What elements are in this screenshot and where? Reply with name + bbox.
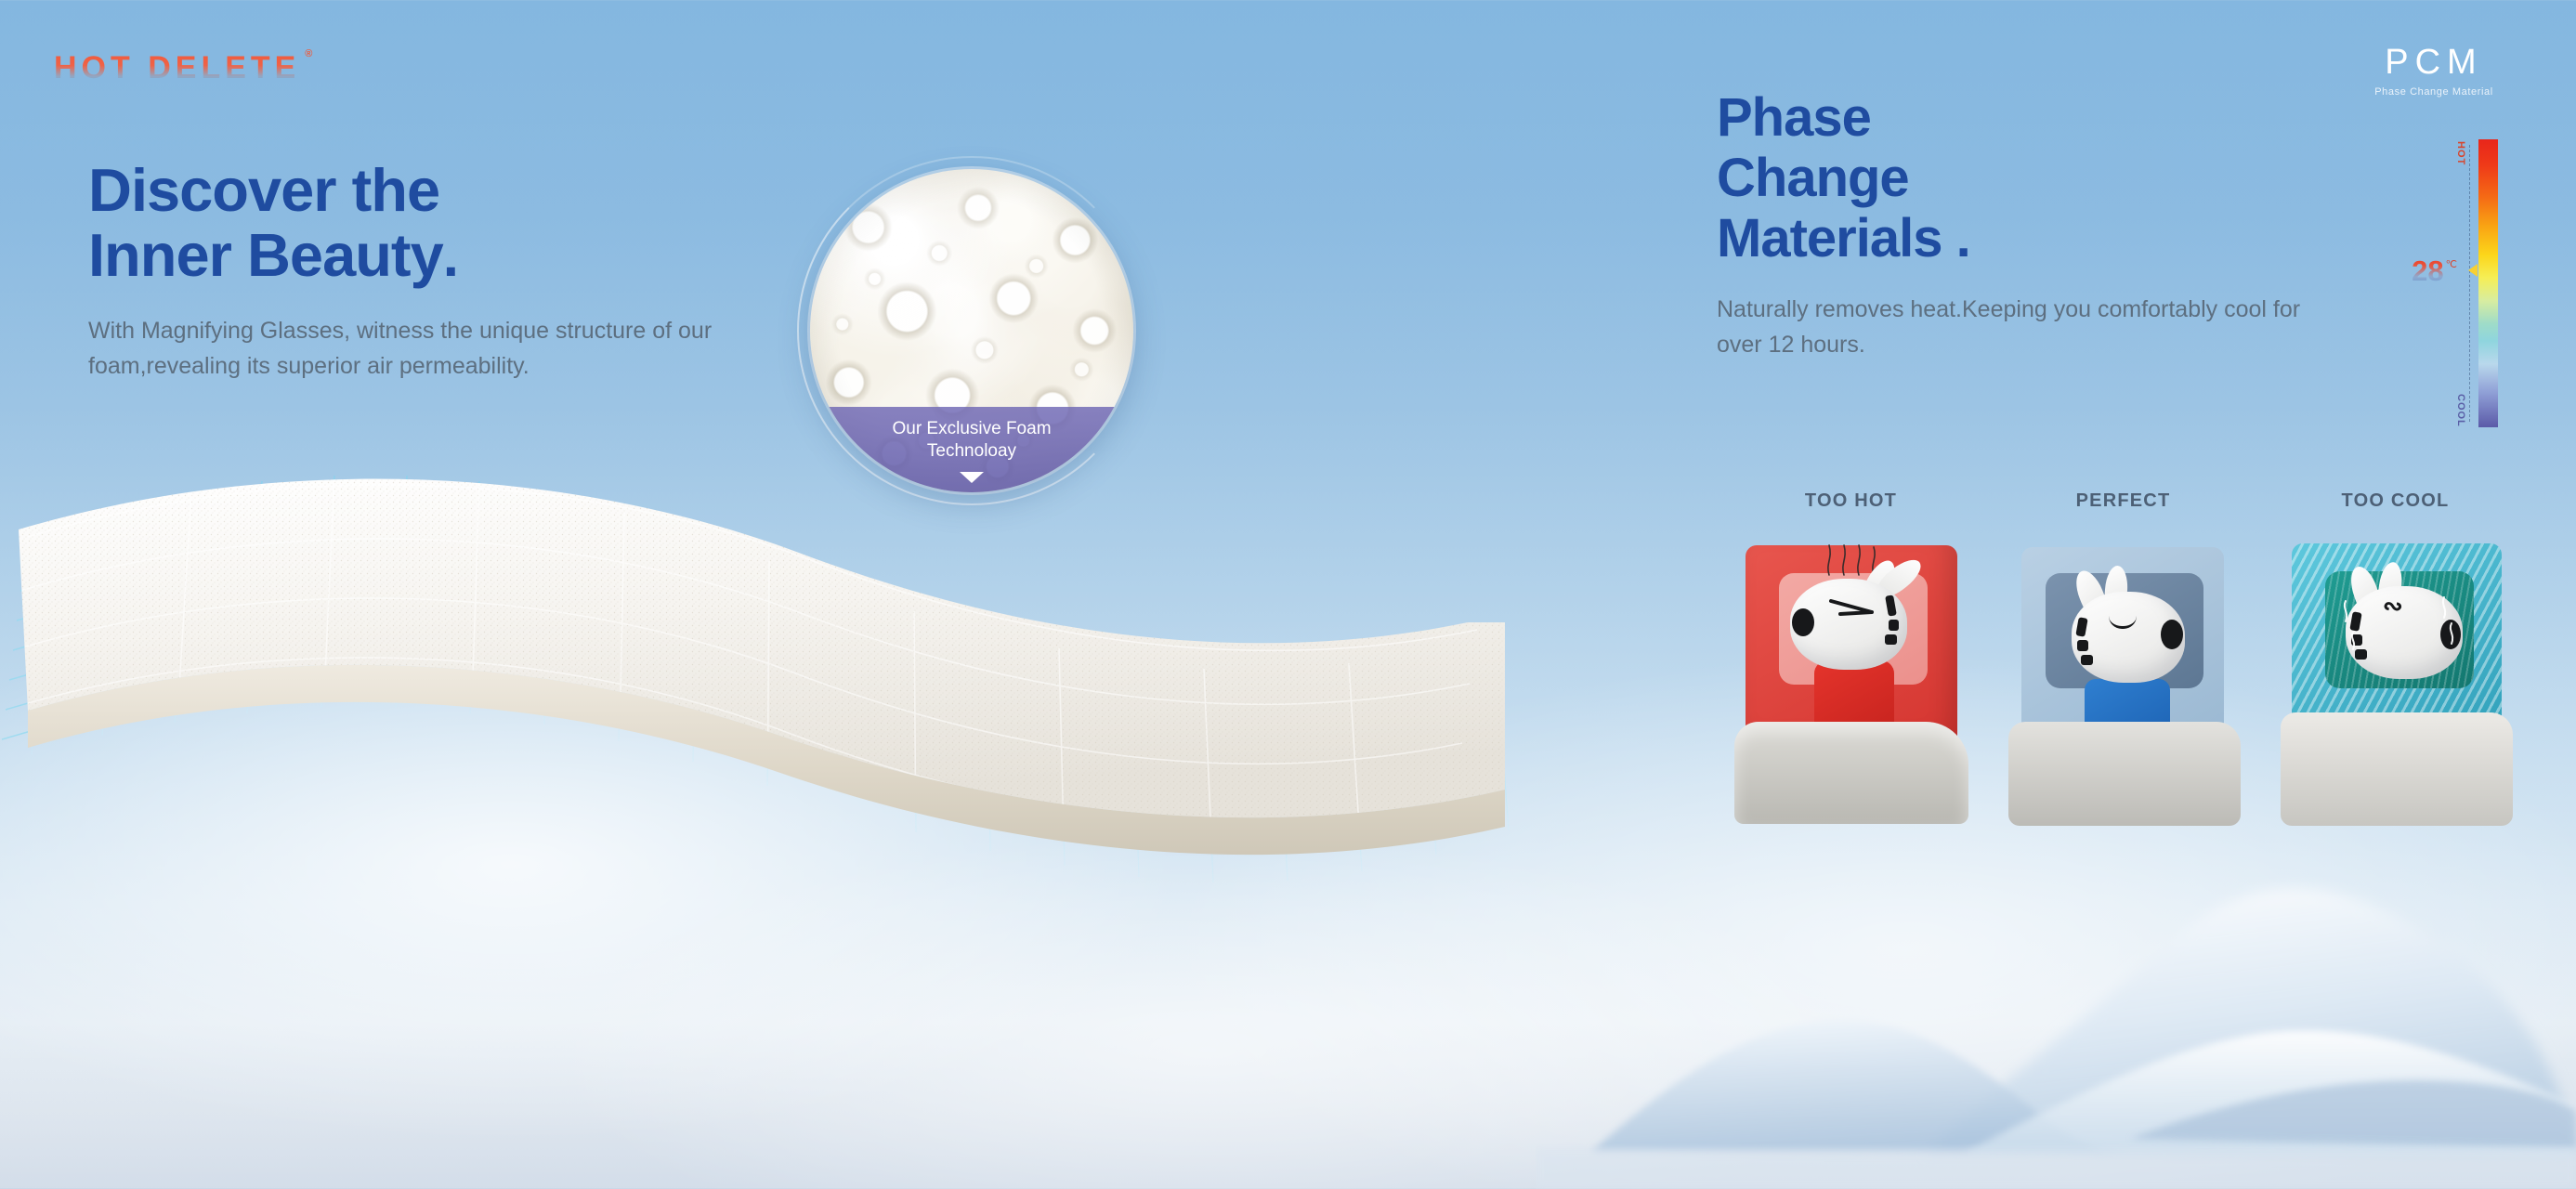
pcm-headline-dot: .: [1956, 208, 1970, 268]
right-content-block: Phase Change Materials . Naturally remov…: [1717, 88, 2311, 362]
pcm-badge-subtitle: Phase Change Material: [2346, 86, 2522, 98]
pcm-headline-line-3: Materials: [1717, 208, 1942, 268]
foam-slab-graphic: [0, 390, 1598, 947]
temperature-axis-line: [2469, 145, 2470, 422]
temperature-reading: 28 ℃: [2412, 256, 2457, 285]
iceberg-background: [1536, 873, 2576, 1189]
bunny-stripe-3: [2081, 655, 2093, 665]
gauge-label-cool: COOL: [2455, 394, 2466, 427]
card-too-hot[interactable]: TOO HOT: [1715, 490, 1987, 818]
bunny-snout: [2161, 620, 2183, 649]
card-label-perfect: PERFECT: [1987, 490, 2259, 512]
pcm-badge: PCM Phase Change Material: [2346, 45, 2522, 98]
temperature-gradient-bar: [2478, 139, 2498, 427]
bunny-eye-squint: [1829, 597, 1877, 618]
pcm-badge-title: PCM: [2346, 45, 2522, 80]
card-art-too-hot: [1740, 540, 1963, 818]
card-too-cool[interactable]: TOO COOL ∾: [2259, 490, 2531, 818]
temperature-unit: ℃: [2446, 258, 2457, 270]
foam-product-image: [0, 390, 1598, 947]
headline-line-2: Inner Beauty: [88, 221, 443, 289]
page-title-right: Phase Change Materials .: [1717, 88, 2311, 269]
card-art-perfect: [2012, 540, 2235, 818]
card-perfect[interactable]: PERFECT: [1987, 490, 2259, 818]
bunny-snout: [1792, 608, 1814, 636]
duvet-blanket: [2281, 712, 2513, 826]
headline-line-1: Discover the: [88, 156, 439, 224]
duvet-blanket: [2008, 722, 2241, 826]
card-label-too-cool: TOO COOL: [2259, 490, 2531, 512]
shiver-lines-icon: [2325, 592, 2465, 657]
temperature-marker-icon: [2468, 264, 2478, 277]
bunny-stripe-3: [1885, 634, 1897, 645]
page-title-left: Discover the Inner Beauty.: [88, 158, 850, 289]
left-subheading: With Magnifying Glasses, witness the uni…: [88, 313, 822, 384]
temperature-value: 28: [2412, 256, 2443, 285]
headline-dot: .: [443, 225, 458, 289]
temperature-gauge: HOT COOL 28 ℃: [2386, 139, 2498, 427]
card-label-too-hot: TOO HOT: [1715, 490, 1987, 512]
pcm-headline-line-2: Change: [1717, 148, 1909, 208]
bunny-stripe-2: [1889, 620, 1899, 631]
brand-logo[interactable]: HOT DELETE ®: [54, 52, 300, 84]
gauge-label-hot: HOT: [2455, 141, 2466, 165]
left-content-block: Discover the Inner Beauty. With Magnifyi…: [88, 158, 850, 384]
comfort-state-cards: TOO HOT: [1715, 490, 2532, 818]
card-art-too-cool: ∾: [2284, 540, 2507, 818]
trademark-icon: ®: [305, 48, 312, 59]
duvet-blanket: [1734, 722, 1968, 824]
right-subheading: Naturally removes heat.Keeping you comfo…: [1717, 292, 2311, 362]
brand-logo-text: HOT DELETE: [54, 52, 300, 84]
bunny-stripe-2: [2077, 640, 2088, 651]
pcm-headline-line-1: Phase: [1717, 87, 1871, 148]
